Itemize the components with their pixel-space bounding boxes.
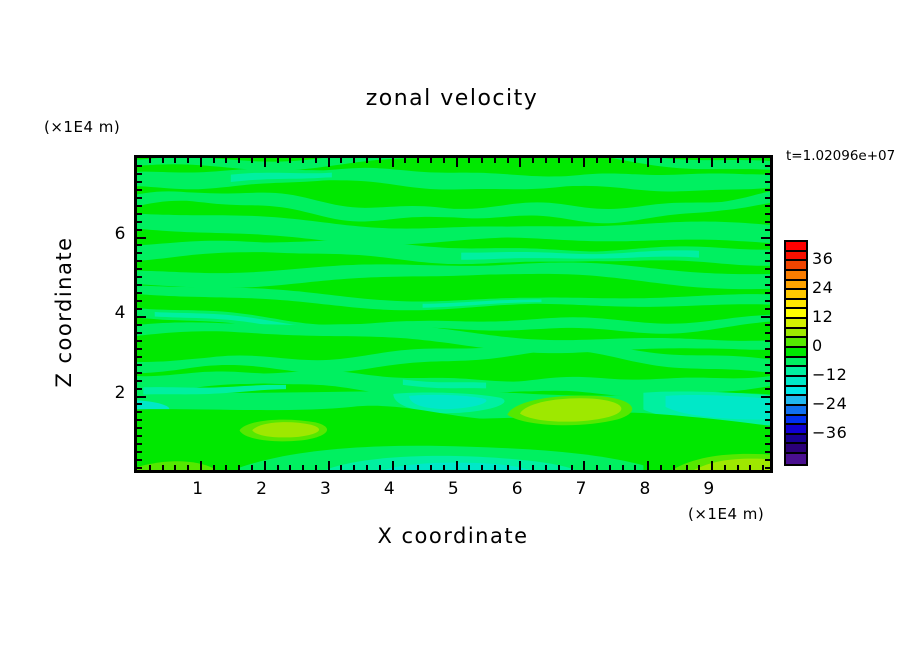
x-tick-minor bbox=[379, 465, 381, 470]
y-tick-minor bbox=[765, 197, 770, 199]
colorbar-tick-label: −24 bbox=[812, 394, 847, 413]
y-tick-minor bbox=[765, 364, 770, 366]
x-tick-label: 5 bbox=[439, 479, 469, 499]
y-tick-label: 2 bbox=[96, 383, 126, 403]
y-tick-minor bbox=[765, 292, 770, 294]
y-tick-minor bbox=[137, 300, 142, 302]
x-tick-minor bbox=[724, 465, 726, 470]
y-tick-minor bbox=[137, 332, 142, 334]
y-tick-minor bbox=[137, 356, 142, 358]
colorbar-tick-label: 36 bbox=[812, 249, 833, 268]
colorbar-band bbox=[786, 454, 806, 464]
x-tick-minor bbox=[724, 158, 726, 163]
x-tick-minor bbox=[494, 158, 496, 163]
colorbar-band bbox=[786, 319, 806, 329]
y-tick-minor bbox=[765, 284, 770, 286]
x-tick-minor bbox=[468, 158, 470, 163]
colorbar-band bbox=[786, 358, 806, 368]
x-tick-minor bbox=[277, 158, 279, 163]
x-tick-minor bbox=[443, 465, 445, 470]
x-tick-major bbox=[711, 461, 713, 470]
y-tick-minor bbox=[137, 419, 142, 421]
y-tick-minor bbox=[137, 221, 142, 223]
x-tick-major bbox=[264, 461, 266, 470]
y-tick-minor bbox=[137, 380, 142, 382]
y-axis-unit-label: (×1E4 m) bbox=[44, 118, 120, 136]
x-tick-label: 1 bbox=[183, 479, 213, 499]
x-tick-minor bbox=[162, 465, 164, 470]
x-tick-minor bbox=[315, 465, 317, 470]
x-tick-minor bbox=[417, 158, 419, 163]
x-tick-minor bbox=[251, 465, 253, 470]
y-tick-minor bbox=[765, 372, 770, 374]
x-tick-minor bbox=[558, 465, 560, 470]
y-tick-minor bbox=[765, 451, 770, 453]
x-tick-minor bbox=[545, 158, 547, 163]
y-tick-major bbox=[761, 396, 770, 398]
x-tick-minor bbox=[749, 158, 751, 163]
x-tick-label: 4 bbox=[375, 479, 405, 499]
x-tick-minor bbox=[443, 158, 445, 163]
y-tick-minor bbox=[137, 276, 142, 278]
x-tick-label: 2 bbox=[247, 479, 277, 499]
contour-plot-area bbox=[134, 155, 773, 473]
y-tick-minor bbox=[765, 205, 770, 207]
x-tick-minor bbox=[289, 158, 291, 163]
x-tick-major bbox=[264, 158, 266, 167]
timestamp-annotation: t=1.02096e+07 bbox=[786, 148, 895, 164]
x-tick-minor bbox=[762, 158, 764, 163]
y-tick-major bbox=[137, 316, 146, 318]
y-tick-minor bbox=[137, 213, 142, 215]
colorbar-band bbox=[786, 377, 806, 387]
colorbar-band bbox=[786, 444, 806, 454]
x-tick-major bbox=[583, 461, 585, 470]
x-tick-minor bbox=[507, 158, 509, 163]
y-tick-minor bbox=[765, 324, 770, 326]
x-tick-minor bbox=[596, 158, 598, 163]
x-tick-minor bbox=[225, 158, 227, 163]
x-tick-minor bbox=[571, 465, 573, 470]
x-tick-minor bbox=[302, 465, 304, 470]
x-tick-minor bbox=[532, 158, 534, 163]
y-tick-minor bbox=[137, 244, 142, 246]
colorbar-band bbox=[786, 252, 806, 262]
x-tick-minor bbox=[238, 158, 240, 163]
x-tick-minor bbox=[494, 465, 496, 470]
y-tick-minor bbox=[765, 173, 770, 175]
x-tick-minor bbox=[366, 465, 368, 470]
y-tick-minor bbox=[137, 411, 142, 413]
x-tick-minor bbox=[315, 158, 317, 163]
colorbar-band bbox=[786, 416, 806, 426]
y-tick-minor bbox=[137, 292, 142, 294]
x-tick-minor bbox=[634, 158, 636, 163]
y-tick-minor bbox=[137, 189, 142, 191]
y-tick-minor bbox=[765, 467, 770, 469]
y-tick-minor bbox=[137, 173, 142, 175]
y-tick-minor bbox=[137, 364, 142, 366]
y-tick-minor bbox=[137, 229, 142, 231]
y-tick-minor bbox=[137, 372, 142, 374]
colorbar-band bbox=[786, 367, 806, 377]
y-tick-minor bbox=[765, 189, 770, 191]
y-tick-minor bbox=[765, 340, 770, 342]
y-tick-minor bbox=[137, 324, 142, 326]
colorbar-band bbox=[786, 290, 806, 300]
x-tick-major bbox=[328, 461, 330, 470]
y-tick-minor bbox=[765, 411, 770, 413]
y-tick-minor bbox=[137, 388, 142, 390]
x-tick-minor bbox=[737, 158, 739, 163]
x-tick-minor bbox=[366, 158, 368, 163]
x-tick-minor bbox=[353, 465, 355, 470]
x-tick-minor bbox=[596, 465, 598, 470]
y-tick-minor bbox=[765, 276, 770, 278]
x-tick-minor bbox=[213, 465, 215, 470]
colorbar-tick-label: 12 bbox=[812, 307, 833, 326]
x-tick-minor bbox=[737, 465, 739, 470]
y-tick-major bbox=[761, 237, 770, 239]
y-tick-minor bbox=[765, 260, 770, 262]
x-tick-minor bbox=[404, 158, 406, 163]
y-tick-minor bbox=[765, 229, 770, 231]
x-tick-label: 7 bbox=[566, 479, 596, 499]
y-tick-minor bbox=[137, 403, 142, 405]
x-tick-minor bbox=[749, 465, 751, 470]
x-tick-minor bbox=[289, 465, 291, 470]
x-tick-major bbox=[519, 461, 521, 470]
y-tick-minor bbox=[765, 308, 770, 310]
x-tick-minor bbox=[213, 158, 215, 163]
x-tick-minor bbox=[558, 158, 560, 163]
x-tick-minor bbox=[430, 465, 432, 470]
y-tick-minor bbox=[137, 348, 142, 350]
x-tick-minor bbox=[698, 465, 700, 470]
y-tick-minor bbox=[765, 300, 770, 302]
colorbar-band bbox=[786, 406, 806, 416]
x-axis-unit-label: (×1E4 m) bbox=[688, 505, 764, 523]
y-tick-major bbox=[761, 316, 770, 318]
x-tick-minor bbox=[340, 158, 342, 163]
colorbar-tick-label: −12 bbox=[812, 365, 847, 384]
x-tick-minor bbox=[225, 465, 227, 470]
y-tick-label: 4 bbox=[96, 303, 126, 323]
y-tick-minor bbox=[765, 332, 770, 334]
x-tick-minor bbox=[340, 465, 342, 470]
colorbar-band bbox=[786, 309, 806, 319]
y-tick-label: 6 bbox=[96, 224, 126, 244]
contour-field bbox=[137, 158, 770, 470]
y-tick-minor bbox=[765, 356, 770, 358]
y-tick-minor bbox=[137, 205, 142, 207]
x-tick-minor bbox=[251, 158, 253, 163]
y-tick-minor bbox=[137, 340, 142, 342]
x-tick-minor bbox=[404, 465, 406, 470]
x-tick-minor bbox=[417, 465, 419, 470]
y-tick-major bbox=[137, 396, 146, 398]
y-tick-minor bbox=[137, 467, 142, 469]
x-tick-label: 6 bbox=[502, 479, 532, 499]
x-tick-label: 3 bbox=[311, 479, 341, 499]
x-tick-minor bbox=[686, 158, 688, 163]
colorbar-band bbox=[786, 425, 806, 435]
y-tick-minor bbox=[137, 451, 142, 453]
x-tick-minor bbox=[187, 465, 189, 470]
colorbar-band bbox=[786, 242, 806, 252]
y-tick-minor bbox=[137, 427, 142, 429]
x-tick-minor bbox=[609, 465, 611, 470]
x-axis-title: X coordinate bbox=[253, 524, 653, 548]
y-tick-minor bbox=[765, 268, 770, 270]
y-tick-minor bbox=[765, 388, 770, 390]
y-tick-minor bbox=[137, 197, 142, 199]
colorbar-band bbox=[786, 261, 806, 271]
x-tick-minor bbox=[353, 158, 355, 163]
x-tick-minor bbox=[634, 465, 636, 470]
x-tick-minor bbox=[238, 465, 240, 470]
y-axis-title: Z coordinate bbox=[52, 222, 76, 402]
colorbar-band bbox=[786, 338, 806, 348]
x-tick-major bbox=[392, 461, 394, 470]
x-tick-minor bbox=[545, 465, 547, 470]
y-tick-minor bbox=[137, 268, 142, 270]
y-tick-minor bbox=[765, 403, 770, 405]
x-tick-major bbox=[519, 158, 521, 167]
x-tick-minor bbox=[532, 465, 534, 470]
x-tick-minor bbox=[622, 465, 624, 470]
y-tick-minor bbox=[765, 252, 770, 254]
x-tick-label: 8 bbox=[630, 479, 660, 499]
x-tick-minor bbox=[660, 465, 662, 470]
colorbar-band bbox=[786, 281, 806, 291]
x-tick-minor bbox=[468, 465, 470, 470]
x-tick-minor bbox=[430, 158, 432, 163]
y-tick-minor bbox=[137, 459, 142, 461]
colorbar-band bbox=[786, 387, 806, 397]
x-tick-minor bbox=[481, 465, 483, 470]
x-tick-major bbox=[711, 158, 713, 167]
colorbar bbox=[784, 240, 808, 466]
x-tick-major bbox=[456, 158, 458, 167]
y-tick-minor bbox=[765, 459, 770, 461]
page-title: zonal velocity bbox=[0, 86, 904, 111]
x-tick-minor bbox=[762, 465, 764, 470]
y-tick-minor bbox=[765, 380, 770, 382]
y-tick-minor bbox=[137, 443, 142, 445]
y-tick-minor bbox=[765, 427, 770, 429]
colorbar-tick-label: 0 bbox=[812, 336, 823, 355]
x-tick-minor bbox=[174, 158, 176, 163]
x-tick-minor bbox=[673, 158, 675, 163]
x-tick-minor bbox=[302, 158, 304, 163]
y-tick-minor bbox=[137, 165, 142, 167]
colorbar-band bbox=[786, 300, 806, 310]
y-tick-minor bbox=[765, 213, 770, 215]
x-tick-minor bbox=[673, 465, 675, 470]
x-tick-minor bbox=[507, 465, 509, 470]
x-tick-minor bbox=[162, 158, 164, 163]
y-tick-minor bbox=[765, 443, 770, 445]
y-tick-minor bbox=[137, 260, 142, 262]
x-tick-minor bbox=[277, 465, 279, 470]
x-tick-major bbox=[328, 158, 330, 167]
colorbar-band bbox=[786, 348, 806, 358]
y-tick-minor bbox=[765, 348, 770, 350]
y-tick-minor bbox=[137, 435, 142, 437]
x-tick-minor bbox=[149, 465, 151, 470]
y-tick-minor bbox=[137, 252, 142, 254]
x-tick-label: 9 bbox=[694, 479, 724, 499]
y-tick-minor bbox=[137, 284, 142, 286]
x-tick-major bbox=[583, 158, 585, 167]
x-tick-major bbox=[392, 158, 394, 167]
colorbar-band bbox=[786, 396, 806, 406]
colorbar-band bbox=[786, 435, 806, 445]
x-tick-minor bbox=[571, 158, 573, 163]
x-tick-minor bbox=[622, 158, 624, 163]
x-tick-minor bbox=[481, 158, 483, 163]
x-tick-minor bbox=[187, 158, 189, 163]
y-tick-minor bbox=[765, 435, 770, 437]
y-tick-minor bbox=[137, 308, 142, 310]
x-tick-major bbox=[200, 461, 202, 470]
y-tick-minor bbox=[137, 181, 142, 183]
x-tick-minor bbox=[609, 158, 611, 163]
x-tick-major bbox=[200, 158, 202, 167]
y-tick-major bbox=[137, 237, 146, 239]
colorbar-tick-label: −36 bbox=[812, 423, 847, 442]
y-tick-minor bbox=[765, 221, 770, 223]
x-tick-major bbox=[647, 461, 649, 470]
x-tick-major bbox=[456, 461, 458, 470]
y-tick-minor bbox=[765, 165, 770, 167]
x-tick-minor bbox=[686, 465, 688, 470]
x-tick-minor bbox=[174, 465, 176, 470]
x-tick-minor bbox=[660, 158, 662, 163]
colorbar-band bbox=[786, 271, 806, 281]
x-tick-minor bbox=[379, 158, 381, 163]
colorbar-tick-label: 24 bbox=[812, 278, 833, 297]
y-tick-minor bbox=[765, 419, 770, 421]
y-tick-minor bbox=[765, 181, 770, 183]
x-tick-major bbox=[647, 158, 649, 167]
x-tick-minor bbox=[149, 158, 151, 163]
y-tick-minor bbox=[765, 244, 770, 246]
x-tick-minor bbox=[698, 158, 700, 163]
colorbar-band bbox=[786, 329, 806, 339]
